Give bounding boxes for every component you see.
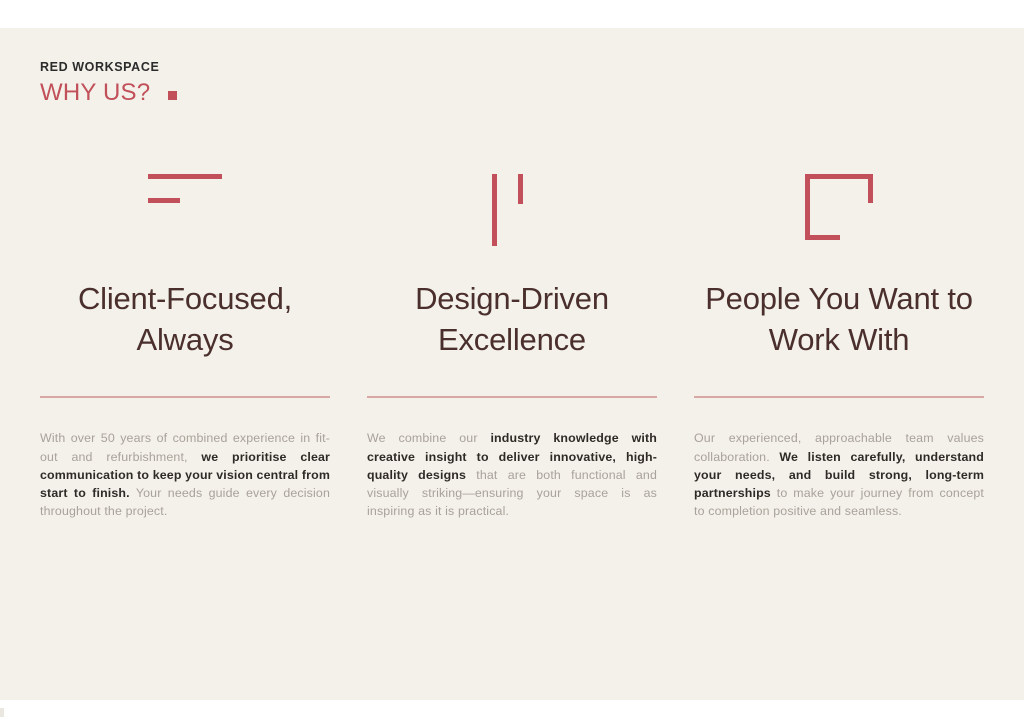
line-short: [518, 174, 523, 204]
body-text-run: We combine our: [367, 431, 490, 445]
page-title: WHY US?: [40, 81, 150, 105]
square-marker-icon: [168, 91, 177, 100]
feature-column-1: Client-Focused, Always With over 50 year…: [40, 168, 330, 521]
two-vertical-lines-icon: [492, 174, 532, 246]
icon-slot-3: [694, 168, 984, 278]
bracket-left-edge: [805, 174, 810, 240]
line-long: [492, 174, 497, 246]
feature-body-1: With over 50 years of combined experienc…: [40, 429, 330, 520]
line-long: [148, 174, 222, 179]
slide-header: RED WORKSPACE WHY US?: [40, 61, 177, 105]
feature-columns: Client-Focused, Always With over 50 year…: [40, 168, 984, 521]
icon-slot-2: [367, 168, 657, 278]
feature-column-2: Design-Driven Excellence We combine our …: [367, 168, 657, 521]
two-horizontal-lines-icon: [148, 174, 222, 203]
open-bracket-square-icon: [805, 174, 873, 240]
icon-slot-1: [40, 168, 330, 278]
feature-heading-2: Design-Driven Excellence: [367, 278, 657, 360]
bracket-right-edge: [868, 174, 873, 203]
feature-heading-3: People You Want to Work With: [694, 278, 984, 360]
feature-column-3: People You Want to Work With Our experie…: [694, 168, 984, 521]
edge-artifact: [0, 708, 4, 717]
bracket-top-edge: [805, 174, 873, 179]
line-short: [148, 198, 180, 203]
feature-body-3: Our experienced, approachable team value…: [694, 429, 984, 520]
divider-2: [367, 396, 657, 398]
feature-body-2: We combine our industry knowledge with c…: [367, 429, 657, 520]
bracket-bottom-edge: [805, 235, 840, 240]
divider-3: [694, 396, 984, 398]
feature-heading-1: Client-Focused, Always: [40, 278, 330, 360]
divider-1: [40, 396, 330, 398]
slide-canvas: RED WORKSPACE WHY US? Client-Focused, Al…: [0, 28, 1024, 700]
brand-eyebrow: RED WORKSPACE: [40, 61, 177, 74]
slide-title-row: WHY US?: [40, 81, 177, 105]
